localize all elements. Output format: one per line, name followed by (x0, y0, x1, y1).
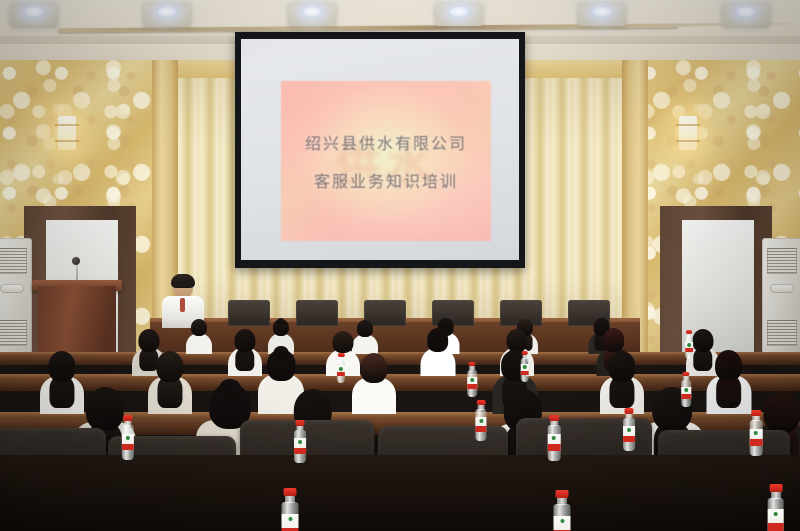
audience-member (420, 329, 455, 376)
bottle-neck (557, 498, 567, 505)
audience-member-head (603, 328, 625, 352)
bottle-label-red-band (122, 444, 134, 450)
bottle-label (681, 387, 691, 399)
water-bottle[interactable] (748, 410, 764, 456)
downlight-6-icon (722, 2, 770, 26)
microphone-icon (72, 257, 80, 265)
glasses-icon (174, 285, 192, 290)
audience-member (706, 351, 751, 414)
audience-member-head (138, 329, 159, 352)
bottle-label (548, 434, 561, 450)
ac-grille-icon (767, 248, 797, 274)
bottle-neck (478, 405, 485, 410)
water-bottle[interactable] (684, 330, 694, 359)
bottle-label (520, 364, 529, 375)
bottle-label-red-band (476, 426, 487, 432)
water-bottle[interactable] (680, 372, 692, 407)
downlight-5-icon (578, 2, 626, 26)
bottle-neck (687, 334, 692, 337)
bottle-brand-logo-icon (774, 512, 778, 516)
bottle-brand-logo-icon (288, 517, 292, 521)
audience-member-head (506, 329, 527, 352)
bottle-neck (124, 421, 131, 426)
bottle-brand-logo-icon (523, 365, 527, 369)
bottle-label (282, 514, 299, 531)
audience-member (148, 352, 192, 414)
water-bottle[interactable] (336, 353, 347, 383)
bottle-label (337, 365, 345, 376)
projection-screen: 供水 绍兴县供水有限公司 客服业务知识培训 (235, 32, 525, 268)
bottle-neck (296, 426, 303, 431)
bottle-neck (752, 416, 759, 421)
bottle-label (750, 429, 763, 445)
bottle-brand-logo-icon (339, 367, 343, 371)
ac-control-panel (0, 284, 24, 293)
audience-member (600, 352, 644, 414)
bottle-cap-icon (338, 353, 344, 357)
audience-member (352, 354, 396, 414)
bottle-neck (469, 366, 475, 370)
bottle-label-red-band (681, 394, 691, 399)
bottle-neck (625, 414, 632, 419)
wall-sconce-left-icon (58, 116, 76, 150)
bottle-label-red-band (767, 523, 784, 531)
bottle-label (767, 509, 784, 531)
floor (0, 455, 800, 531)
bottle-label (554, 516, 571, 531)
bottle-cap-icon (686, 330, 692, 334)
bottle-cap-icon (284, 488, 297, 496)
audience-member-head (234, 329, 255, 352)
audience-member-head (427, 328, 449, 352)
bottle-brand-logo-icon (684, 388, 688, 392)
audience-member-head (332, 331, 353, 353)
bottle-label (476, 417, 487, 432)
bottle-label-red-band (337, 372, 345, 376)
bottle-neck (285, 496, 295, 503)
bottle-label-red-band (685, 348, 693, 352)
audience-member (186, 320, 212, 354)
bottle-label-red-band (467, 384, 477, 389)
ac-grille-icon (0, 248, 27, 274)
bottle-neck (339, 357, 344, 360)
bottle-label (685, 342, 693, 352)
bottle-neck (522, 355, 527, 359)
bottle-cap-icon (295, 420, 304, 426)
bottle-cap-icon (751, 410, 761, 416)
water-bottle[interactable] (279, 488, 301, 531)
bottle-brand-logo-icon (560, 519, 564, 523)
desk-row (0, 355, 800, 365)
audience-member-head (86, 387, 124, 431)
bottle-neck (771, 492, 781, 499)
bottle-label (122, 434, 134, 450)
bottle-label-red-band (294, 448, 306, 454)
bottle-brand-logo-icon (479, 419, 483, 423)
bottle-label-red-band (750, 439, 763, 445)
water-bottle[interactable] (474, 400, 489, 441)
water-bottle[interactable] (292, 420, 307, 463)
slide-title-line-1: 绍兴县供水有限公司 (305, 130, 467, 154)
audience-member-head (191, 319, 207, 336)
bottle-label-red-band (282, 528, 299, 531)
water-bottle[interactable] (551, 490, 573, 531)
audience-member-head (48, 351, 75, 382)
bottle-label-red-band (623, 436, 635, 442)
bottle-label-red-band (548, 444, 561, 450)
bottle-cap-icon (521, 351, 528, 355)
bottle-brand-logo-icon (298, 440, 302, 444)
bottle-label (467, 377, 477, 389)
bottle-cap-icon (556, 490, 569, 498)
bottle-cap-icon (123, 415, 132, 421)
projected-slide: 供水 绍兴县供水有限公司 客服业务知识培训 (281, 81, 491, 241)
audience-member-head (360, 353, 387, 383)
downlight-4-icon (435, 2, 483, 26)
projection-screen-surface: 供水 绍兴县供水有限公司 客服业务知识培训 (241, 39, 519, 260)
water-bottle[interactable] (120, 415, 136, 460)
bottle-brand-logo-icon (754, 431, 758, 435)
audience-member-head (715, 350, 743, 382)
water-bottle[interactable] (519, 351, 530, 382)
bottle-cap-icon (624, 408, 633, 414)
audience-member (228, 330, 262, 376)
water-bottle[interactable] (466, 362, 478, 397)
audience-member-head (156, 351, 183, 382)
downlight-1-icon (10, 2, 58, 26)
audience-member-head (763, 391, 800, 433)
audience-member-head (608, 351, 635, 382)
water-bottle[interactable] (546, 415, 562, 461)
ac-control-panel (770, 284, 794, 293)
bottle-brand-logo-icon (126, 436, 130, 440)
bottle-cap-icon (549, 415, 559, 421)
bottle-neck (683, 376, 689, 380)
water-bottle[interactable] (621, 408, 636, 451)
slide-title-line-2: 客服业务知识培训 (314, 168, 458, 192)
bottle-cap-icon (769, 484, 782, 492)
slide-text-block: 绍兴县供水有限公司 客服业务知识培训 (281, 81, 491, 241)
water-bottle[interactable] (765, 484, 787, 531)
downlight-3-icon (288, 2, 336, 26)
bottle-brand-logo-icon (627, 428, 631, 432)
wall-sconce-right-icon (679, 116, 697, 150)
bottle-label (623, 426, 635, 441)
downlight-2-icon (143, 2, 191, 26)
conference-room-photo: 供水 绍兴县供水有限公司 客服业务知识培训 (0, 0, 800, 531)
bottle-brand-logo-icon (687, 343, 691, 347)
bottle-cap-icon (477, 400, 486, 405)
bottle-brand-logo-icon (552, 436, 556, 440)
bottle-brand-logo-icon (470, 378, 474, 382)
bottle-neck (550, 421, 557, 426)
audience-member-head (692, 329, 713, 352)
bottle-label-red-band (520, 371, 529, 375)
bottle-label (294, 438, 306, 453)
